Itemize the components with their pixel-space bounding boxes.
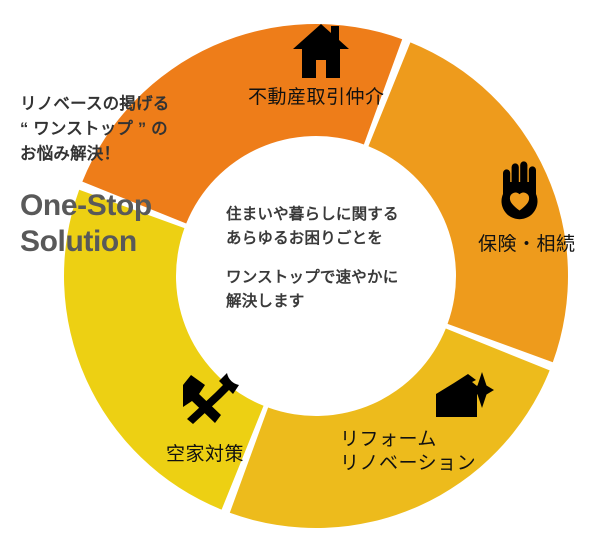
house-sparkle-icon [432, 372, 494, 424]
hand-heart-icon [498, 160, 544, 222]
tagline-text: リノベースの掲げる “ ワンストップ ” の お悩み解決！ [20, 92, 220, 166]
segment-label-insurance: 保険・相続 [478, 233, 576, 257]
center-paragraph-2: ワンストップで速やかに 解決します [226, 266, 446, 314]
house-icon [291, 22, 351, 80]
one-stop-solution-infographic: 不動産取引仲介 保険・相続 リフォーム リノベーション 空家対策 リノベースの掲… [0, 0, 600, 533]
segment-label-vacant: 空家対策 [166, 443, 244, 467]
center-copy-block: 住まいや暮らしに関する あらゆるお困りごとを ワンストップで速やかに 解決します [226, 203, 446, 314]
heading-block: リノベースの掲げる “ ワンストップ ” の お悩み解決！ One-Stop S… [20, 92, 220, 259]
hammer-wrench-icon [177, 371, 239, 425]
center-paragraph-1: 住まいや暮らしに関する あらゆるお困りごとを [226, 203, 446, 251]
segment-label-reform: リフォーム リノベーション [340, 428, 476, 476]
segment-label-brokerage: 不動産取引仲介 [248, 86, 385, 110]
page-title: One-Stop Solution [20, 188, 220, 259]
